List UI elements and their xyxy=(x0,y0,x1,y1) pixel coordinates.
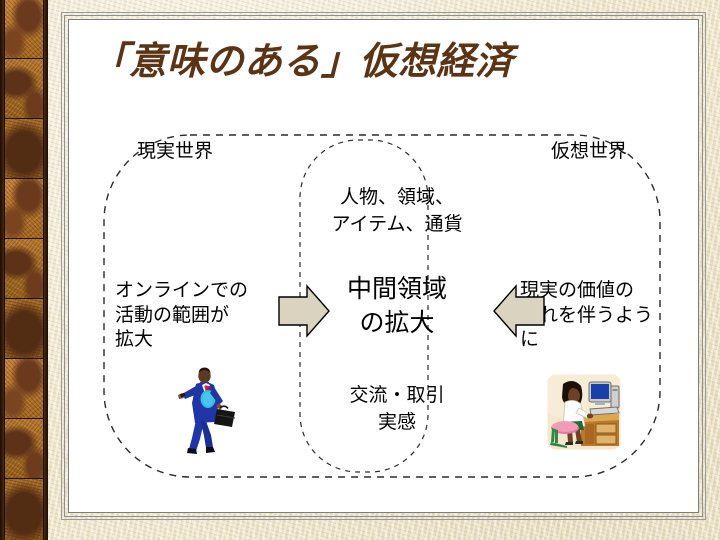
band-tile xyxy=(4,58,44,120)
band-tile xyxy=(4,178,44,240)
text-right-region: 現実の価値の 流れを伴うよう に xyxy=(520,278,695,352)
left-decorative-band xyxy=(0,0,48,540)
text-middle-bottom: 交流・取引 実感 xyxy=(302,382,492,435)
slide-canvas: 「意味のある」仮想経済 現実世界 仮想世界 オンラインでの 活動の範囲が 拡大 … xyxy=(0,0,720,540)
running-businessman-illustration xyxy=(173,365,247,457)
band-tile xyxy=(4,298,44,360)
text-middle-top: 人物、領域、 アイテム、通貨 xyxy=(302,184,492,237)
label-virtual-world: 仮想世界 xyxy=(551,136,627,163)
band-tile xyxy=(4,478,44,540)
band-tile xyxy=(4,118,44,180)
arrow-left-icon xyxy=(492,283,546,339)
band-tile xyxy=(4,358,44,420)
band-tile xyxy=(4,0,44,60)
arrow-right-icon xyxy=(277,283,331,339)
page-title: 「意味のある」仮想経済 xyxy=(90,41,610,83)
person-at-computer-desk-illustration xyxy=(545,372,623,452)
band-right-edge xyxy=(44,0,48,540)
band-tile xyxy=(4,418,44,480)
label-real-world: 現実世界 xyxy=(137,136,213,163)
band-left-edge xyxy=(0,0,4,540)
text-left-region: オンラインでの 活動の範囲が 拡大 xyxy=(115,278,290,352)
band-tile xyxy=(4,238,44,300)
